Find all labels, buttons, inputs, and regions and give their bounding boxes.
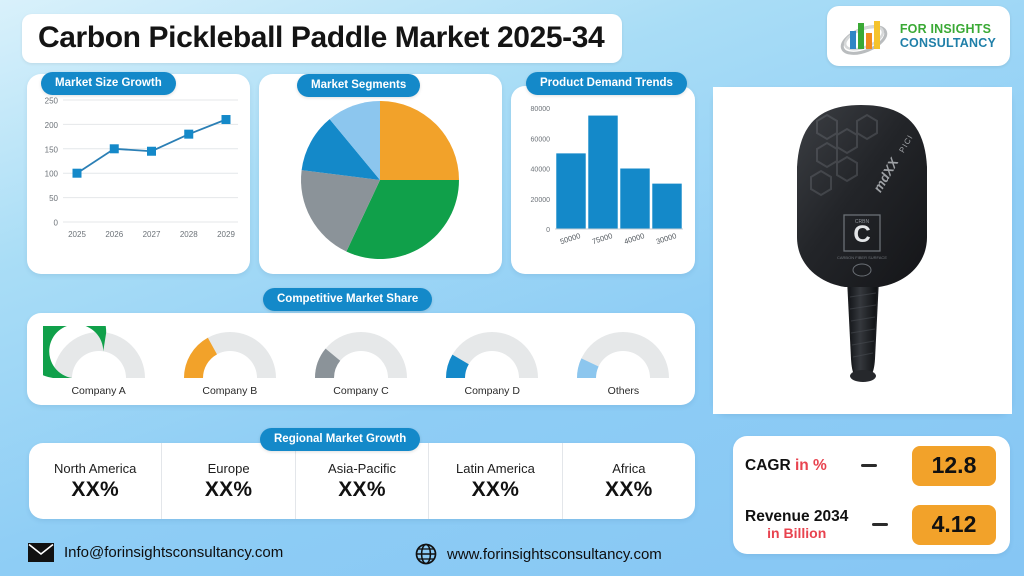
gauge-item-others: Others xyxy=(558,326,689,397)
region-card-europe: EuropeXX% xyxy=(162,443,295,519)
svg-text:50000: 50000 xyxy=(559,231,582,246)
region-value: XX% xyxy=(605,478,653,502)
kpi-label-cagr: CAGR in % xyxy=(745,457,827,475)
panel-competitive-market-share: Company ACompany BCompany CCompany DOthe… xyxy=(27,313,695,405)
region-card-latin-america: Latin AmericaXX% xyxy=(429,443,562,519)
footer: Info@forinsightsconsultancy.com www.fori… xyxy=(0,534,1024,576)
kpi-dash-icon xyxy=(861,464,877,467)
envelope-icon xyxy=(28,543,54,562)
region-value: XX% xyxy=(338,478,386,502)
gauge-item-company-d: Company D xyxy=(427,326,558,397)
region-card-africa: AfricaXX% xyxy=(563,443,695,519)
kpi-label-accent: in % xyxy=(795,457,827,474)
brand-logo: FOR INSIGHTS CONSULTANCY xyxy=(827,6,1010,66)
svg-text:80000: 80000 xyxy=(531,106,551,113)
region-card-asia-pacific: Asia-PacificXX% xyxy=(296,443,429,519)
badge-competitive-market-share: Competitive Market Share xyxy=(263,288,432,311)
market-segments-chart xyxy=(259,74,502,274)
gauge-list: Company ACompany BCompany CCompany DOthe… xyxy=(27,313,695,405)
market-size-growth-chart: 05010015020025020252026202720282029 xyxy=(27,74,250,274)
gauge-label: Company A xyxy=(71,385,125,397)
svg-text:40000: 40000 xyxy=(623,231,646,246)
region-name: Europe xyxy=(208,461,250,476)
page-title-chip: Carbon Pickleball Paddle Market 2025-34 xyxy=(22,14,622,63)
region-list: North AmericaXX%EuropeXX%Asia-PacificXX%… xyxy=(29,443,695,519)
gauge-arc xyxy=(43,326,155,384)
panel-product-image: mdXX PICKLEBALL C CRBN CARBON FIBER SURF… xyxy=(713,87,1012,414)
kpi-value-cagr: 12.8 xyxy=(912,446,996,486)
footer-website-text: www.forinsightsconsultancy.com xyxy=(447,546,662,563)
badge-market-size-growth: Market Size Growth xyxy=(41,72,176,95)
svg-text:CRBN: CRBN xyxy=(855,219,870,225)
svg-text:2027: 2027 xyxy=(143,230,161,239)
svg-text:100: 100 xyxy=(45,170,59,179)
region-card-north-america: North AmericaXX% xyxy=(29,443,162,519)
svg-text:150: 150 xyxy=(45,145,59,154)
kpi-label-text: CAGR xyxy=(745,457,791,474)
gauge-label: Company B xyxy=(202,385,257,397)
region-name: Asia-Pacific xyxy=(328,461,396,476)
footer-email-text: Info@forinsightsconsultancy.com xyxy=(64,544,283,561)
gauge-label: Company C xyxy=(333,385,388,397)
gauge-item-company-a: Company A xyxy=(33,326,164,397)
panel-regional-market-growth: North AmericaXX%EuropeXX%Asia-PacificXX%… xyxy=(29,443,695,519)
svg-text:75000: 75000 xyxy=(591,231,614,246)
badge-product-demand-trends: Product Demand Trends xyxy=(526,72,687,95)
gauge-item-company-b: Company B xyxy=(164,326,295,397)
pickleball-paddle-image: mdXX PICKLEBALL C CRBN CARBON FIBER SURF… xyxy=(713,87,1012,414)
gauge-arc xyxy=(305,326,417,384)
bar-chart-swoosh-logo-icon xyxy=(837,13,891,59)
kpi-dash-icon xyxy=(872,523,888,526)
svg-text:30000: 30000 xyxy=(655,231,678,246)
svg-text:50: 50 xyxy=(49,194,58,203)
product-demand-trends-chart: 0200004000060000800005000075000400003000… xyxy=(511,86,695,274)
svg-text:CARBON FIBER SURFACE: CARBON FIBER SURFACE xyxy=(837,255,887,260)
gauge-item-company-c: Company C xyxy=(295,326,426,397)
svg-text:60000: 60000 xyxy=(531,136,551,143)
footer-email[interactable]: Info@forinsightsconsultancy.com xyxy=(28,543,283,562)
svg-text:0: 0 xyxy=(546,227,550,234)
badge-market-segments: Market Segments xyxy=(297,74,420,97)
logo-line-1: FOR INSIGHTS xyxy=(900,22,996,36)
svg-text:2025: 2025 xyxy=(68,230,86,239)
badge-regional-market-growth: Regional Market Growth xyxy=(260,428,420,451)
region-name: North America xyxy=(54,461,136,476)
svg-text:0: 0 xyxy=(54,219,59,228)
svg-text:250: 250 xyxy=(45,97,59,106)
paddle-brand-mark: C xyxy=(853,221,870,248)
svg-text:2029: 2029 xyxy=(217,230,235,239)
panel-product-demand-trends: 0200004000060000800005000075000400003000… xyxy=(511,86,695,274)
logo-line-2: CONSULTANCY xyxy=(900,36,996,50)
region-value: XX% xyxy=(472,478,520,502)
kpi-label-text: Revenue 2034 xyxy=(745,508,848,525)
region-value: XX% xyxy=(205,478,253,502)
footer-website[interactable]: www.forinsightsconsultancy.com xyxy=(415,543,662,565)
svg-text:200: 200 xyxy=(45,121,59,130)
svg-text:2028: 2028 xyxy=(180,230,198,239)
svg-text:20000: 20000 xyxy=(531,197,551,204)
gauge-arc xyxy=(174,326,286,384)
gauge-label: Others xyxy=(608,385,640,397)
globe-icon xyxy=(415,543,437,565)
region-name: Latin America xyxy=(456,461,535,476)
gauge-arc xyxy=(567,326,679,384)
page-title: Carbon Pickleball Paddle Market 2025-34 xyxy=(38,21,604,54)
gauge-arc xyxy=(436,326,548,384)
region-value: XX% xyxy=(71,478,119,502)
region-name: Africa xyxy=(612,461,645,476)
svg-text:2026: 2026 xyxy=(105,230,123,239)
svg-text:40000: 40000 xyxy=(531,167,551,174)
gauge-label: Company D xyxy=(464,385,519,397)
panel-market-segments xyxy=(259,74,502,274)
panel-market-size-growth: 05010015020025020252026202720282029 xyxy=(27,74,250,274)
kpi-row-cagr: CAGR in % 12.8 xyxy=(733,436,1010,495)
